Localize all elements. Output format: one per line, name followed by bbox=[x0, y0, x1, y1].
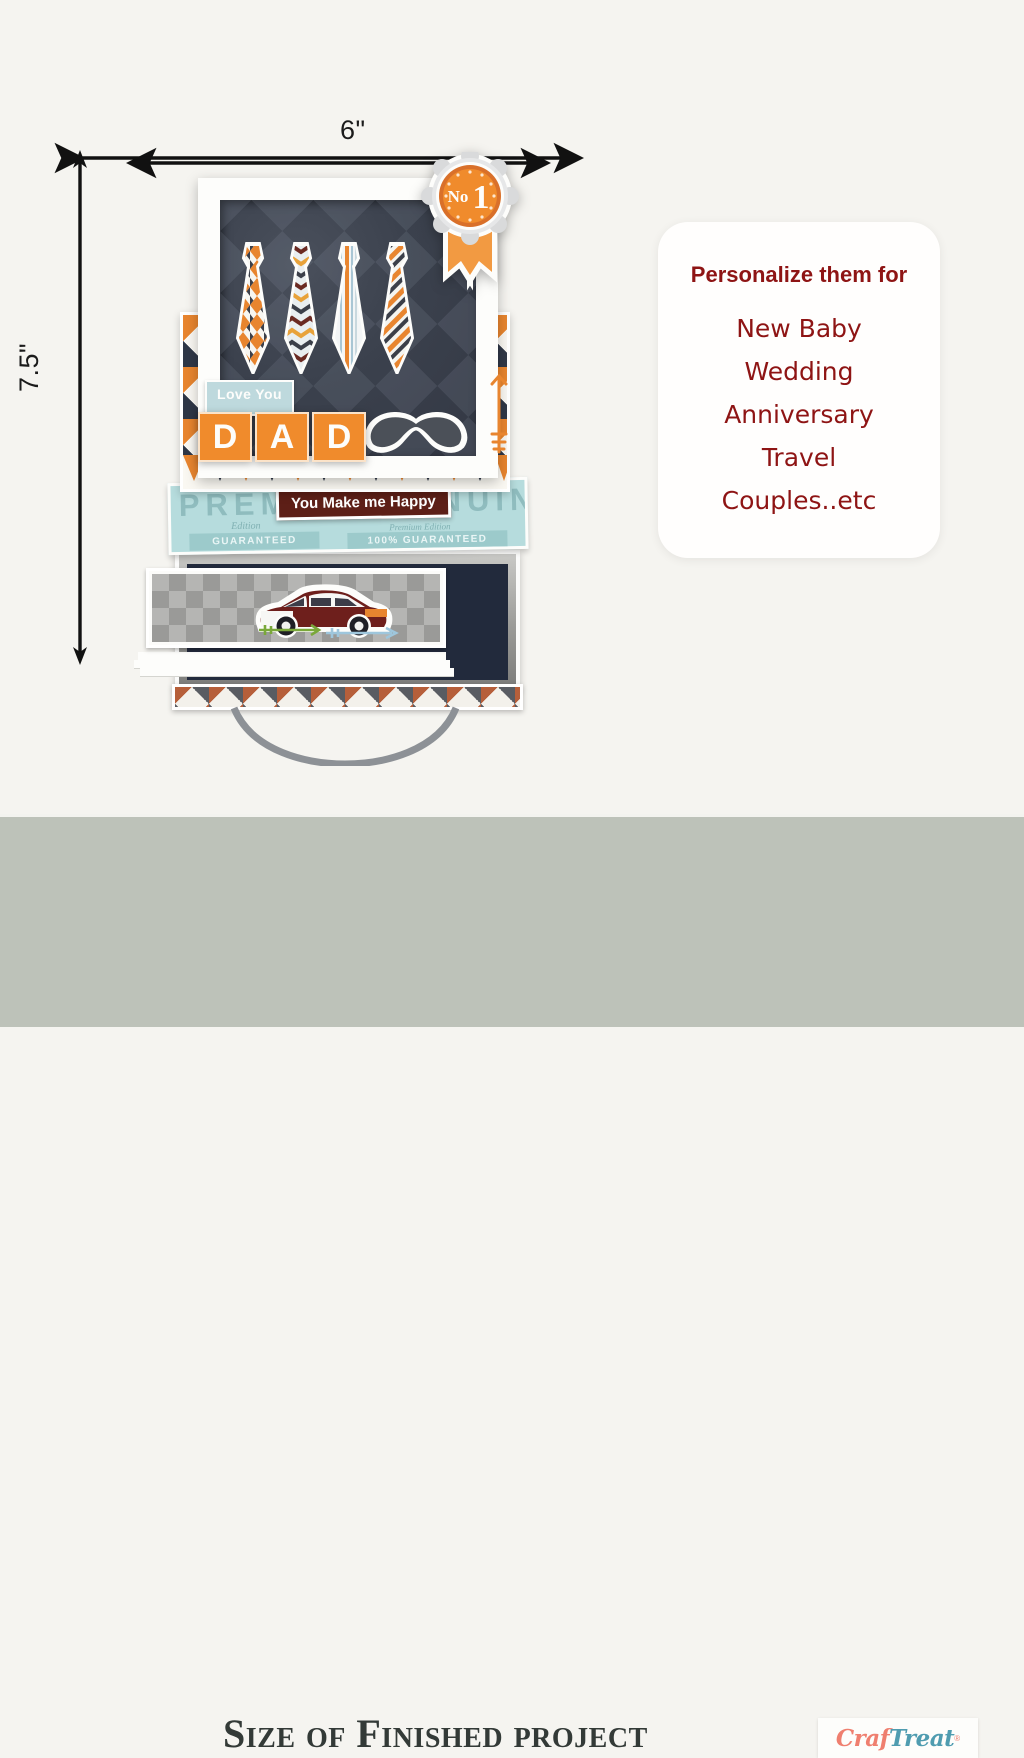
green-arrow-diecut bbox=[259, 623, 329, 635]
arrow-up-icon bbox=[488, 372, 510, 456]
strip-ribbon-right: 100% GUARANTEED bbox=[347, 530, 507, 550]
svg-text:1: 1 bbox=[473, 179, 490, 216]
product-photo: PREMIUM GENUINE Edition Premium Edition … bbox=[120, 150, 580, 770]
bottom-banner: Size of Finished project CrafTreat® bbox=[0, 814, 1024, 1027]
logo-part-one: Craf bbox=[836, 1725, 889, 1752]
dad-blocks: D A D bbox=[198, 412, 366, 462]
strip-edition-label: Edition bbox=[231, 521, 261, 533]
personalize-item: Wedding bbox=[744, 357, 853, 386]
logo-part-two: Treat bbox=[889, 1725, 954, 1752]
dad-block-letter: A bbox=[255, 412, 309, 462]
personalize-card: Personalize them for New Baby Wedding An… bbox=[658, 222, 940, 558]
top-card-car-scene bbox=[146, 568, 446, 648]
dad-block-letter: D bbox=[198, 412, 252, 462]
screenshot-root: 6" 7.5" bbox=[0, 0, 1024, 1024]
ribbon-handle bbox=[230, 706, 460, 766]
moustache-icon bbox=[364, 412, 469, 454]
logo-registered-mark: ® bbox=[954, 1734, 960, 1743]
personalize-item: Anniversary bbox=[724, 400, 874, 429]
banner-title: Size of Finished project bbox=[223, 1710, 648, 1757]
no1-rosette-badge: No 1 bbox=[420, 152, 520, 302]
dad-block-letter: D bbox=[312, 412, 366, 462]
tie-chevron-icon bbox=[284, 242, 318, 374]
personalize-item: New Baby bbox=[736, 314, 862, 343]
personalize-item: Travel bbox=[762, 443, 836, 472]
width-dimension-label: 6" bbox=[340, 115, 366, 146]
craftreat-logo: CrafTreat® bbox=[818, 1718, 978, 1758]
tie-diagonal-icon bbox=[380, 242, 414, 374]
love-you-label: Love You bbox=[205, 380, 294, 416]
argyle-pattern bbox=[175, 687, 520, 707]
svg-text:No: No bbox=[448, 187, 469, 206]
tie-stripe-icon bbox=[332, 242, 366, 374]
tie-argyle-icon bbox=[236, 242, 270, 374]
card-stack bbox=[130, 568, 460, 678]
blue-arrow-diecut bbox=[324, 626, 404, 638]
height-dimension-label: 7.5" bbox=[14, 343, 45, 392]
personalize-item: Couples..etc bbox=[722, 486, 877, 515]
personalize-heading: Personalize them for bbox=[691, 262, 907, 288]
strip-ribbon-left: GUARANTEED bbox=[189, 532, 319, 551]
